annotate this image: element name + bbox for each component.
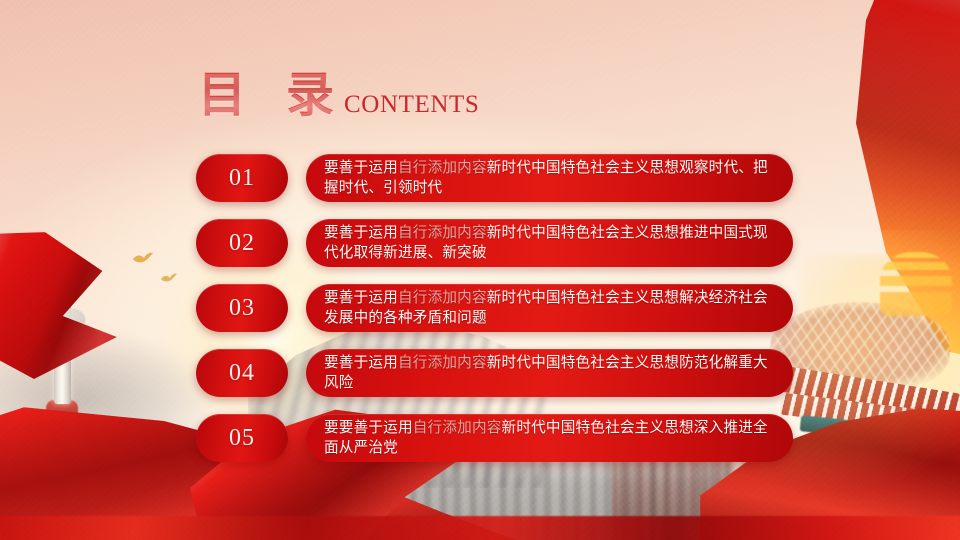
item-text-bar[interactable]: 要善于运用自行添加内容新时代中国特色社会主义思想解决经济社会发展中的各种矛盾和问… bbox=[306, 284, 793, 332]
item-text-bar[interactable]: 要善于运用自行添加内容新时代中国特色社会主义思想观察时代、把握时代、引领时代 bbox=[306, 154, 793, 202]
item-text-placeholder: 自行添加内容 bbox=[413, 420, 502, 436]
item-number-badge[interactable]: 03 bbox=[196, 284, 288, 332]
item-text: 要善于运用自行添加内容新时代中国特色社会主义思想推进中国式现代化取得新进展、新突… bbox=[324, 223, 777, 263]
item-text-bar[interactable]: 要要善于运用自行添加内容新时代中国特色社会主义思想深入推进全面从严治党 bbox=[306, 414, 793, 462]
item-text-bar[interactable]: 要善于运用自行添加内容新时代中国特色社会主义思想防范化解重大风险 bbox=[306, 349, 793, 397]
item-text-bar[interactable]: 要善于运用自行添加内容新时代中国特色社会主义思想推进中国式现代化取得新进展、新突… bbox=[306, 219, 793, 267]
contents-list: 01 要善于运用自行添加内容新时代中国特色社会主义思想观察时代、把握时代、引领时… bbox=[196, 154, 796, 479]
item-number: 04 bbox=[229, 361, 255, 385]
page-title: 目 录 CONTENTS bbox=[198, 72, 479, 120]
list-item[interactable]: 01 要善于运用自行添加内容新时代中国特色社会主义思想观察时代、把握时代、引领时… bbox=[196, 154, 796, 202]
item-text-placeholder: 自行添加内容 bbox=[398, 290, 487, 306]
page-title-en: CONTENTS bbox=[344, 92, 479, 120]
item-text: 要善于运用自行添加内容新时代中国特色社会主义思想防范化解重大风险 bbox=[324, 353, 777, 393]
item-text-prefix: 要善于运用 bbox=[324, 290, 398, 306]
item-number-badge[interactable]: 04 bbox=[196, 349, 288, 397]
item-number: 02 bbox=[229, 231, 255, 255]
list-item[interactable]: 02 要善于运用自行添加内容新时代中国特色社会主义思想推进中国式现代化取得新进展… bbox=[196, 219, 796, 267]
item-text-prefix: 要善于运用 bbox=[324, 355, 398, 371]
list-item[interactable]: 03 要善于运用自行添加内容新时代中国特色社会主义思想解决经济社会发展中的各种矛… bbox=[196, 284, 796, 332]
item-text-placeholder: 自行添加内容 bbox=[398, 225, 487, 241]
item-number-badge[interactable]: 01 bbox=[196, 154, 288, 202]
item-number: 05 bbox=[229, 426, 255, 450]
item-text-placeholder: 自行添加内容 bbox=[398, 160, 487, 176]
item-number-badge[interactable]: 02 bbox=[196, 219, 288, 267]
item-text: 要要善于运用自行添加内容新时代中国特色社会主义思想深入推进全面从严治党 bbox=[324, 418, 777, 458]
slide-content: 目 录 CONTENTS 01 要善于运用自行添加内容新时代中国特色社会主义思想… bbox=[0, 0, 960, 540]
item-number-badge[interactable]: 05 bbox=[196, 414, 288, 462]
item-text: 要善于运用自行添加内容新时代中国特色社会主义思想观察时代、把握时代、引领时代 bbox=[324, 158, 777, 198]
item-text-prefix: 要要善于运用 bbox=[324, 420, 413, 436]
list-item[interactable]: 05 要要善于运用自行添加内容新时代中国特色社会主义思想深入推进全面从严治党 bbox=[196, 414, 796, 462]
item-number: 03 bbox=[229, 296, 255, 320]
item-text-prefix: 要善于运用 bbox=[324, 160, 398, 176]
slide-canvas: 目 录 CONTENTS 01 要善于运用自行添加内容新时代中国特色社会主义思想… bbox=[0, 0, 960, 540]
item-text: 要善于运用自行添加内容新时代中国特色社会主义思想解决经济社会发展中的各种矛盾和问… bbox=[324, 288, 777, 328]
item-text-placeholder: 自行添加内容 bbox=[398, 355, 487, 371]
page-title-cn: 目 录 bbox=[198, 72, 348, 120]
item-text-prefix: 要善于运用 bbox=[324, 225, 398, 241]
item-number: 01 bbox=[229, 166, 255, 190]
list-item[interactable]: 04 要善于运用自行添加内容新时代中国特色社会主义思想防范化解重大风险 bbox=[196, 349, 796, 397]
